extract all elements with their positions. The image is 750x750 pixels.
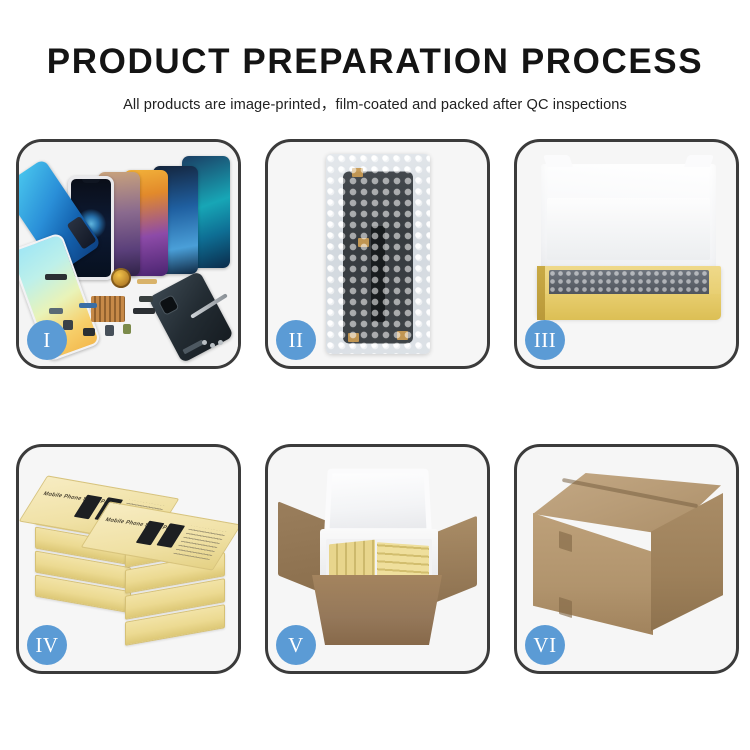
process-step-6: VI — [514, 444, 739, 674]
tape-piece — [348, 333, 359, 342]
housing-label — [182, 340, 204, 355]
process-step-1: I — [16, 139, 241, 369]
step-badge-2: II — [276, 320, 316, 360]
carton-left-face — [533, 513, 653, 635]
spare-part — [83, 328, 95, 336]
step-badge-3: III — [525, 320, 565, 360]
process-step-3: III — [514, 139, 739, 369]
bubble-wrap-bag — [326, 154, 430, 354]
step-badge-1: I — [27, 320, 67, 360]
spare-part — [133, 308, 155, 314]
spare-part — [79, 303, 97, 308]
step-badge-4: IV — [27, 625, 67, 665]
header: PRODUCT PREPARATION PROCESS All products… — [0, 0, 750, 114]
speaker-coil-part — [111, 268, 131, 288]
page-subtitle: All products are image-printed，film-coat… — [0, 93, 750, 114]
step-badge-6: VI — [525, 625, 565, 665]
yellow-boxes-right — [377, 542, 429, 580]
yellow-boxes-left — [329, 540, 375, 581]
camera-module — [158, 294, 180, 316]
tape-piece — [397, 331, 408, 340]
screws-group — [202, 340, 224, 348]
flex-cable — [371, 226, 385, 322]
process-step-5: V — [265, 444, 490, 674]
process-step-4: Mobile Phone Spare Parts Mobile Phone Sp… — [16, 444, 241, 674]
phone-notch — [82, 179, 100, 183]
process-step-2: II — [265, 139, 490, 369]
page-title: PRODUCT PREPARATION PROCESS — [0, 44, 750, 81]
chip-board-part — [91, 296, 125, 322]
carton-body — [312, 575, 442, 645]
tape-piece — [352, 168, 363, 177]
spare-part — [63, 320, 73, 330]
foam-sheet — [547, 198, 710, 260]
spare-part — [139, 296, 153, 302]
spare-part — [49, 308, 63, 314]
inner-contents — [326, 539, 432, 581]
step-badge-5: V — [276, 625, 316, 665]
yellow-box-side — [537, 266, 545, 320]
yellow-box-front — [537, 294, 721, 320]
box-stack: Mobile Phone Spare Parts Mobile Phone Sp… — [33, 473, 229, 653]
spare-part — [45, 274, 67, 280]
spare-part — [105, 325, 114, 336]
spare-part — [123, 324, 131, 334]
infographic-page: PRODUCT PREPARATION PROCESS All products… — [0, 0, 750, 750]
foam-lid — [324, 469, 432, 534]
bubble-wrapped-contents — [549, 270, 709, 296]
carton-tape — [559, 597, 572, 618]
spare-part — [137, 279, 157, 284]
tape-piece — [358, 238, 369, 247]
process-step-grid: I II — [16, 139, 738, 684]
